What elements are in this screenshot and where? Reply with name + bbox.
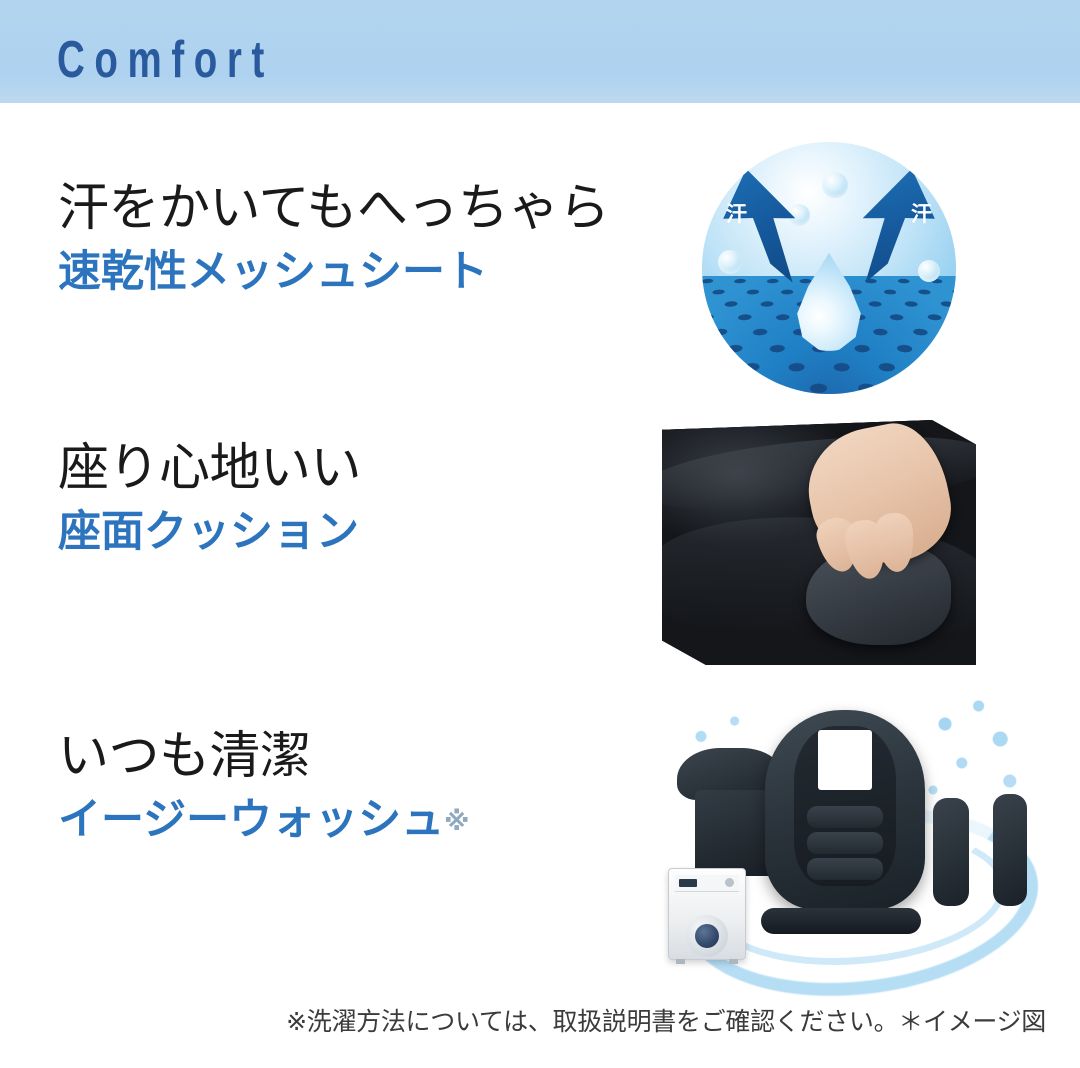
seat-shell-rib [807, 858, 884, 880]
washer-display [679, 879, 697, 887]
feature-headline: 座り心地いい [58, 438, 361, 500]
bubble-icon [822, 172, 848, 198]
washable-parts-photo [655, 690, 1045, 975]
seat-part-strap [761, 908, 921, 934]
washer-control-panel [675, 875, 739, 892]
seat-part-main-shell [765, 710, 925, 910]
footnote-marker: ※ [444, 807, 469, 837]
washer-door [686, 915, 728, 957]
seat-part-side-pad [993, 794, 1027, 906]
feature-row-seat-cushion: 座り心地いい 座面クッション [58, 438, 361, 560]
feature-headline: 汗をかいてもへっちゃら [58, 178, 609, 240]
page-title: Comfort [57, 31, 274, 89]
washing-machine-icon [668, 868, 746, 960]
seat-shell-rib [807, 832, 884, 854]
mesh-circle-body: 汗 汗 [702, 142, 956, 394]
washer-foot [729, 959, 738, 964]
seat-shell-window [818, 730, 872, 790]
washer-door-glass [695, 924, 719, 948]
bubble-icon [718, 250, 742, 274]
feature-subline-wrap: イージーウォッシュ※ [58, 792, 469, 848]
seat-part-side-pad [933, 798, 969, 906]
quick-dry-mesh-circle-icon: 汗 汗 [702, 142, 956, 394]
sweat-arrow-right-label: 汗 [911, 204, 932, 225]
bubble-icon [918, 260, 940, 282]
feature-subline: 速乾性メッシュシート [58, 247, 488, 297]
feature-subline: イージーウォッシュ [58, 795, 444, 845]
sweat-arrow-left-label: 汗 [726, 204, 747, 225]
feature-subline-wrap: 座面クッション [58, 504, 361, 560]
washer-knob-icon [725, 878, 734, 887]
seat-shell-rib [807, 806, 884, 828]
feature-headline: いつも清潔 [58, 726, 469, 788]
section-header-band: Comfort [0, 0, 1080, 103]
seat-cushion-photo [662, 420, 976, 665]
footnote-text: ※洗濯方法については、取扱説明書をご確認ください。＊イメージ図 [0, 1002, 1046, 1038]
feature-row-easy-wash: いつも清潔 イージーウォッシュ※ [58, 726, 469, 848]
feature-row-quick-dry-mesh: 汗をかいてもへっちゃら 速乾性メッシュシート [58, 178, 609, 300]
feature-subline-wrap: 速乾性メッシュシート [58, 244, 609, 300]
washer-foot [676, 959, 685, 964]
water-droplet-icon [792, 253, 866, 351]
feature-subline: 座面クッション [58, 507, 359, 557]
